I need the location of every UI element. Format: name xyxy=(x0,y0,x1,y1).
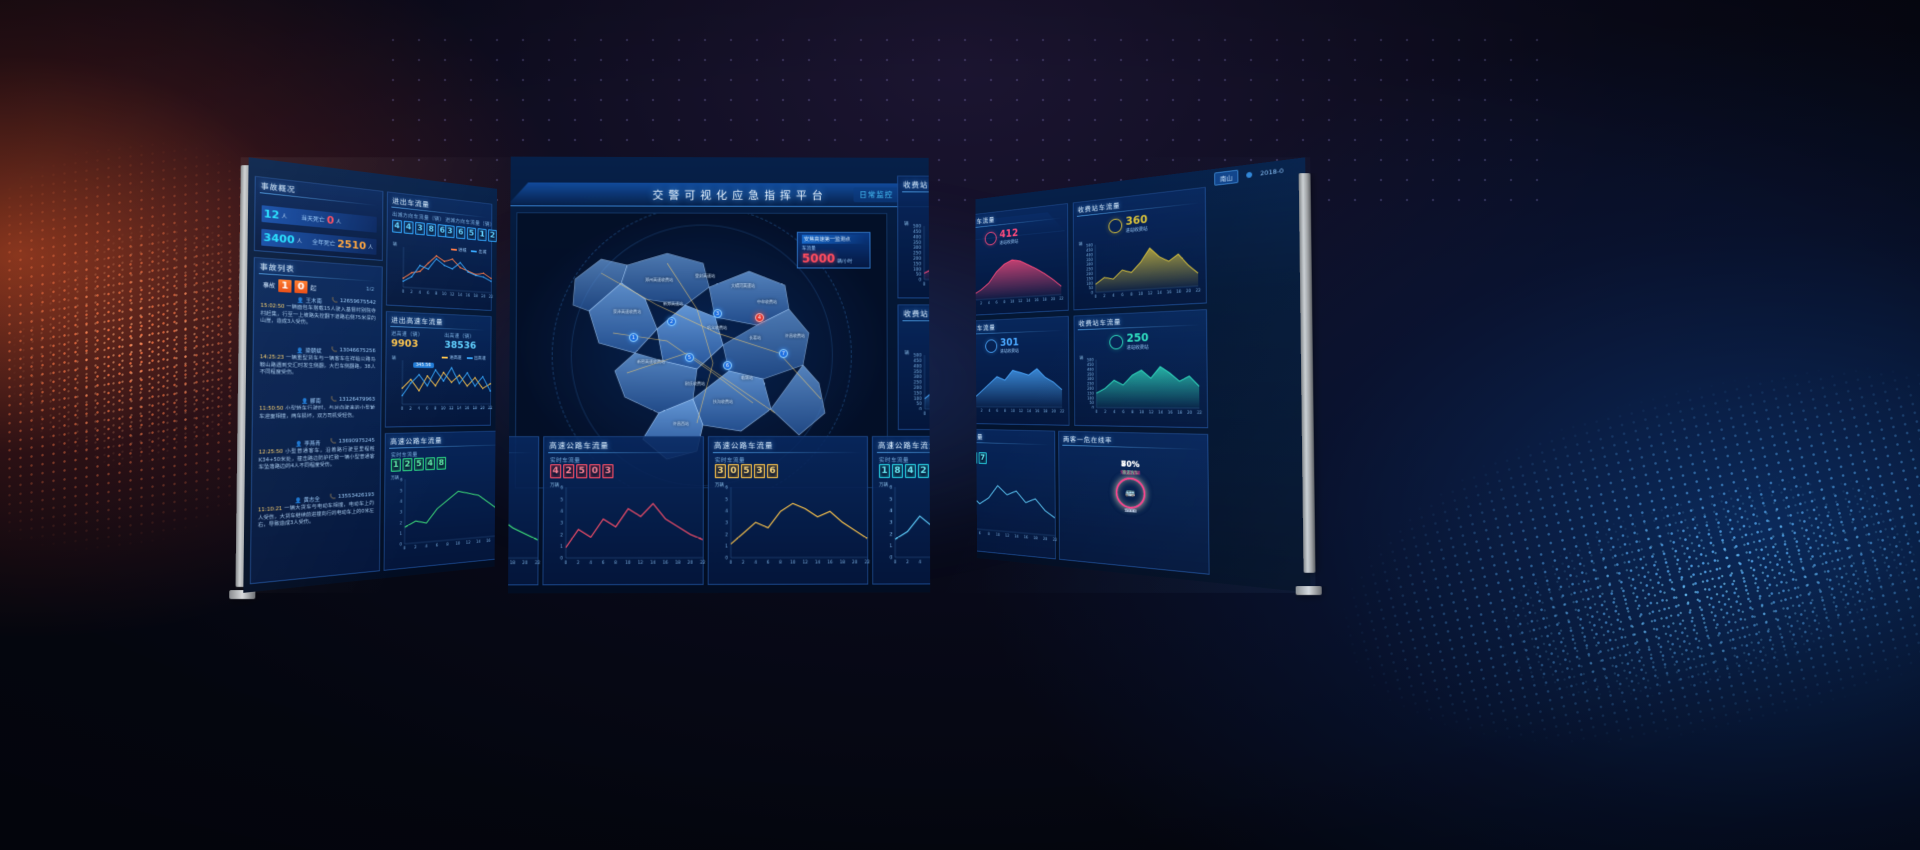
svg-text:12: 12 xyxy=(1148,290,1153,295)
wall-panel-right: 交警可视化应急指挥平台 日常监控 南山 2018-0 事故概况 12 人 当天死… xyxy=(975,157,1310,593)
digit-plate: 3 xyxy=(602,464,613,478)
toll-value: 360 xyxy=(1126,213,1148,228)
svg-text:300: 300 xyxy=(914,374,922,379)
highway-out-block: 出高速（辆） 38536 xyxy=(444,332,476,352)
svg-text:12: 12 xyxy=(1005,533,1009,538)
map-pin-6[interactable]: 6 xyxy=(723,361,732,370)
digit-plate: 6 xyxy=(456,226,465,239)
svg-text:22: 22 xyxy=(1197,410,1203,415)
toll-card-0: 收费站车流量 412进站收费站 辆50045040035030025020015… xyxy=(975,203,1068,317)
right-particle-field-inner xyxy=(1365,365,1920,826)
svg-text:辆: 辆 xyxy=(392,354,397,361)
svg-text:4: 4 xyxy=(419,290,422,295)
svg-text:18: 18 xyxy=(473,293,478,298)
svg-text:200: 200 xyxy=(1086,271,1093,276)
dashboard-title: 交警可视化应急指挥平台 xyxy=(652,186,827,202)
svg-text:2: 2 xyxy=(1104,409,1107,414)
svg-text:0: 0 xyxy=(1092,405,1095,410)
title-underline xyxy=(902,320,930,321)
title-underline xyxy=(1062,445,1201,450)
svg-text:6: 6 xyxy=(889,485,892,490)
highway-title: 高速公路车流量 xyxy=(714,440,774,451)
title-underline xyxy=(1077,203,1199,217)
accident-phone: 📞 13046675256 xyxy=(331,347,375,356)
map-label: 许昌西站 xyxy=(673,421,689,427)
accident-reporter: 👤 黄志全 xyxy=(295,495,320,504)
inout-flow-title: 进出车流量 xyxy=(392,196,429,210)
highway-title: 高速公路车流量 xyxy=(975,431,983,441)
svg-text:20: 20 xyxy=(480,406,485,411)
svg-text:18: 18 xyxy=(510,560,516,565)
wall-panel-left: 交警可视化应急指挥平台 日常监控 南山 2018-0 事故概况 12 人 当天死… xyxy=(243,157,497,593)
toll-label: 进站收费站 xyxy=(1000,238,1019,246)
svg-text:14: 14 xyxy=(1014,534,1019,539)
toll-ring-text: 360进站收费站 xyxy=(1126,213,1148,234)
svg-text:400: 400 xyxy=(1086,252,1093,257)
title-underline xyxy=(902,191,930,192)
legend-swatch xyxy=(442,356,448,358)
svg-text:5: 5 xyxy=(560,497,563,502)
tab-daily-monitor[interactable]: 日常监控 xyxy=(853,187,899,202)
svg-text:6: 6 xyxy=(436,543,439,548)
highway-card-2: 高速公路车流量 实时车流量 30536 万辆654321002468101214… xyxy=(708,436,869,585)
overview-row-today: 12 人 当天死亡 0 人 xyxy=(262,205,377,233)
svg-text:14: 14 xyxy=(476,539,481,544)
map-pin-5[interactable]: 5 xyxy=(685,353,694,362)
vehicle-icon: 🚌 xyxy=(1126,488,1136,498)
accident-list-card: 事故列表 事故 1 0 起 1/2 👤 王木南📞 1265967554215:0… xyxy=(250,257,383,584)
toll-title: 收费站车流量 xyxy=(975,215,995,228)
svg-text:2: 2 xyxy=(906,559,909,564)
digit-plate: 1 xyxy=(391,458,401,471)
svg-text:2: 2 xyxy=(725,532,728,537)
online-rate-gauge: 70%危险品运输🚌5000 xyxy=(1113,460,1148,516)
highway-inout-card: 进出高速车流量 进高速（辆） 9903 出高速（辆） 38536 进高速出高速 … xyxy=(385,311,492,428)
accident-overview-title: 事故概况 xyxy=(261,180,296,195)
title-underline xyxy=(975,330,1063,335)
map-pin-4[interactable]: 4 xyxy=(755,313,764,322)
accident-time: 12:25:50 xyxy=(259,449,285,456)
svg-text:10: 10 xyxy=(456,541,461,546)
accident-item-body: 14:25:23 一辆重型货车与一辆客车在祥临公路马鞍山路遇到交汇时发生侧翻，大… xyxy=(260,354,376,378)
overview-year-death-label: 全年死亡 xyxy=(312,237,335,248)
map-label: 郑州高速收费站 xyxy=(645,277,673,283)
svg-text:0: 0 xyxy=(402,289,405,294)
map-label: 许昌收费站 xyxy=(785,333,805,339)
svg-text:0: 0 xyxy=(890,555,893,560)
svg-text:6: 6 xyxy=(979,531,981,536)
svg-text:0: 0 xyxy=(923,282,926,287)
accident-reporter: 👤 王木南 xyxy=(297,296,322,305)
svg-text:350: 350 xyxy=(1086,257,1093,262)
accident-list-item[interactable]: 👤 黄志全📞 1355342619311:10:21 一辆大货车与电动车相撞，电… xyxy=(258,492,374,530)
toll-ring-text: 250进站收费站 xyxy=(1126,331,1148,351)
svg-text:10: 10 xyxy=(441,406,446,411)
map-pin-2[interactable]: 2 xyxy=(667,317,676,326)
digit-plate: 5 xyxy=(414,458,424,471)
dashboard: 交警可视化应急指挥平台 日常监控 南山 2018-0 事故概况 12 人 当天死… xyxy=(975,157,1310,593)
svg-text:12: 12 xyxy=(638,560,644,565)
svg-text:0: 0 xyxy=(403,545,406,550)
svg-text:0: 0 xyxy=(564,560,567,565)
vehicle-icon: 🚌 xyxy=(1126,488,1136,498)
digit-plate: 3 xyxy=(445,225,454,238)
svg-text:4: 4 xyxy=(988,408,990,413)
accident-list-item[interactable]: 👤 李燕青📞 1369097524512:25:50 小型普通客车，沿着路行驶至… xyxy=(259,438,375,472)
svg-text:500: 500 xyxy=(913,224,921,229)
chart-marker-label: 345.56 xyxy=(413,362,433,368)
accident-time: 15:02:50 xyxy=(260,303,286,310)
svg-text:0: 0 xyxy=(725,555,728,560)
svg-text:14: 14 xyxy=(457,406,462,411)
svg-text:14: 14 xyxy=(650,560,656,565)
svg-text:10: 10 xyxy=(1138,291,1143,296)
title-underline xyxy=(975,218,1062,230)
accident-list-page[interactable]: 1/2 xyxy=(366,287,374,293)
gauge-count: 5000 xyxy=(1113,508,1148,515)
gauge-percent: 70% xyxy=(1113,460,1148,470)
svg-text:0: 0 xyxy=(729,560,732,565)
highway-out-value: 38536 xyxy=(444,339,476,351)
map-label: 扶沟收费站 xyxy=(713,399,733,405)
digit-plate: 5 xyxy=(576,464,587,478)
svg-text:50: 50 xyxy=(1089,285,1094,290)
toll-title: 收费站车流量 xyxy=(1078,317,1121,329)
accident-item-head: 👤 王木南📞 12659675542 xyxy=(261,294,376,308)
accident-item-body: 11:50:50 小型轿车行驶时，与对向驶来的小型轿车迎面相撞，两车损坏，双方司… xyxy=(259,405,375,421)
svg-text:2: 2 xyxy=(560,532,563,537)
overview-unit: 人 xyxy=(297,236,303,244)
accident-item-body: 12:25:50 小型普通客车，沿着路行驶至里程桩K34+50米处，撞击路边防护… xyxy=(259,446,375,472)
legend-swatch xyxy=(471,250,477,252)
digit-plate: 8 xyxy=(437,457,446,470)
svg-text:0: 0 xyxy=(919,407,922,412)
svg-text:1: 1 xyxy=(725,543,728,548)
title-underline xyxy=(259,273,376,282)
dashboard-header: 交警可视化应急指挥平台 日常监控 xyxy=(508,182,930,207)
svg-text:6: 6 xyxy=(1122,409,1125,414)
svg-text:22: 22 xyxy=(865,559,871,564)
gauge-name: 客运汽车 xyxy=(1113,470,1148,477)
dashboard-header: 交警可视化应急指挥平台 日常监控 xyxy=(494,211,497,266)
accident-item-body: 15:02:50 一辆面包车搭载15人驶入基督村别院寺村赶集，行至一上坡路失控翻… xyxy=(260,303,376,330)
svg-text:0: 0 xyxy=(1095,409,1098,414)
svg-text:16: 16 xyxy=(466,293,471,298)
legend-entry: 出城 xyxy=(471,248,486,255)
map-label: 中牟收费站 xyxy=(757,299,777,305)
toll-title: 收费站车流量 xyxy=(975,323,995,334)
toll-card-2: 收费站车流量 301进站收费站 辆50045040035030025020015… xyxy=(975,316,1069,426)
toll-card-0: 收费站车流量 412进站收费站 辆50045040035030025020015… xyxy=(897,176,930,299)
svg-text:350: 350 xyxy=(1087,372,1094,377)
online-rate-card: 两客一危在线率 80%旅游客车🚌5000050%客运汽车🚌600070%危险品运… xyxy=(1058,431,1209,575)
map-info-box: 安焦高速第一监测点 车流量 5000 辆/小时 xyxy=(797,232,871,269)
accident-time: 14:25:23 xyxy=(260,354,286,360)
legend-entry: 进城 xyxy=(451,246,467,254)
svg-text:2: 2 xyxy=(980,301,982,306)
inout-flow-card: 进出车流量 出城方向车流量（辆） 44386 进城方向车流量（辆） 36512 … xyxy=(386,191,492,311)
overview-today-death-label: 当天死亡 xyxy=(301,213,325,224)
svg-text:2: 2 xyxy=(981,408,983,413)
digit-plate: 4 xyxy=(425,457,435,470)
svg-text:0: 0 xyxy=(401,406,404,411)
header-date: 2018-0 xyxy=(1260,167,1284,178)
svg-text:6: 6 xyxy=(996,408,998,413)
svg-text:16: 16 xyxy=(827,559,833,564)
svg-text:12: 12 xyxy=(466,540,471,545)
svg-text:8: 8 xyxy=(1003,299,1005,304)
inout-in-block: 进城方向车流量（辆） 36512 xyxy=(508,194,510,218)
svg-text:20: 20 xyxy=(1052,409,1057,414)
svg-text:辆: 辆 xyxy=(905,349,910,356)
svg-text:100: 100 xyxy=(1087,395,1094,400)
bezel-foot-right xyxy=(1296,586,1322,595)
svg-text:400: 400 xyxy=(913,234,921,239)
svg-text:100: 100 xyxy=(914,396,922,401)
gauge-ring: 🚌 xyxy=(1116,477,1146,510)
toll-ring-icon xyxy=(1108,218,1122,234)
svg-text:200: 200 xyxy=(914,385,922,390)
svg-text:4: 4 xyxy=(1112,293,1115,298)
svg-text:250: 250 xyxy=(913,250,921,255)
svg-text:8: 8 xyxy=(446,542,449,547)
accident-reporter: 👤 梁朝斌 xyxy=(297,346,322,354)
map-pin-7[interactable]: 7 xyxy=(779,349,788,358)
highway-title: 高速公路车流量 xyxy=(878,440,930,451)
dashboard: 交警可视化应急指挥平台 日常监控 南山 2018-0 事故概况 12 人 当天死… xyxy=(243,157,497,593)
toll-card-3: 收费站车流量 250进站收费站 辆50045040035030025020015… xyxy=(1074,309,1209,428)
inout-in-label: 进城方向车流量（辆） xyxy=(445,216,497,228)
svg-text:20: 20 xyxy=(688,560,694,565)
svg-text:6: 6 xyxy=(400,477,403,482)
highway-in-label: 进高速（辆） xyxy=(391,330,423,338)
svg-text:250: 250 xyxy=(1087,381,1094,386)
svg-text:3: 3 xyxy=(560,520,563,525)
svg-text:22: 22 xyxy=(1196,287,1202,292)
svg-text:18: 18 xyxy=(1033,535,1038,540)
svg-text:8: 8 xyxy=(988,531,990,536)
svg-text:2: 2 xyxy=(400,520,403,525)
svg-text:18: 18 xyxy=(496,537,497,542)
accident-list-item[interactable]: 👤 王木南📞 1265967554215:02:50 一辆面包车搭载15人驶入基… xyxy=(260,294,376,330)
map-pin-1[interactable]: 1 xyxy=(629,333,638,342)
svg-text:100: 100 xyxy=(1086,281,1093,286)
svg-text:16: 16 xyxy=(1024,534,1029,539)
highway-sub: 实时车流量 xyxy=(879,456,909,464)
svg-text:16: 16 xyxy=(663,560,669,565)
overview-today-injured: 12 xyxy=(264,207,280,221)
digit-plate: 0 xyxy=(589,464,600,478)
svg-text:300: 300 xyxy=(1086,262,1093,267)
highway-title: 高速公路车流量 xyxy=(390,435,442,446)
svg-text:8: 8 xyxy=(1004,408,1006,413)
svg-text:0: 0 xyxy=(919,277,922,282)
highway-card-3: 高速公路车流量 实时车流量 18427 万辆654321002468101214… xyxy=(872,436,930,585)
svg-text:450: 450 xyxy=(1086,247,1093,252)
title-underline xyxy=(713,452,861,453)
bezel-right xyxy=(1299,173,1316,573)
svg-text:2: 2 xyxy=(1103,293,1106,298)
svg-text:2: 2 xyxy=(414,544,417,549)
svg-text:10: 10 xyxy=(1139,409,1144,414)
svg-text:12: 12 xyxy=(450,292,455,297)
svg-text:16: 16 xyxy=(1167,289,1172,294)
accident-count-label: 事故 xyxy=(263,280,276,290)
overview-unit: 人 xyxy=(368,243,373,251)
accident-phone: 📞 12659675542 xyxy=(332,298,376,308)
digit-plate: 6 xyxy=(438,224,447,237)
title-underline xyxy=(508,452,532,453)
digit-plate: 6 xyxy=(767,464,778,478)
digit-plate: 2 xyxy=(488,229,497,242)
svg-text:4: 4 xyxy=(919,559,922,564)
digit-plate: 8 xyxy=(426,223,436,236)
overview-today-death: 0 xyxy=(327,214,335,227)
accident-phone: 📞 13553426193 xyxy=(330,492,375,502)
accident-list-item[interactable]: 👤 郦南📞 1312647996311:50:50 小型轿车行驶时，与对向驶来的… xyxy=(259,397,375,421)
video-wall: 交警可视化应急指挥平台 日常监控 南山 2018-0 事故概况 12 人 当天死… xyxy=(238,156,1313,592)
svg-text:4: 4 xyxy=(560,508,563,513)
svg-text:22: 22 xyxy=(700,560,706,565)
vehicle-icon: 🚌 xyxy=(1126,488,1136,498)
digit-plate: 2 xyxy=(975,452,977,464)
status-dot-icon xyxy=(1246,172,1252,178)
highway-title: 高速公路车流量 xyxy=(549,440,609,451)
svg-text:12: 12 xyxy=(449,406,454,411)
map-label: 长葛站 xyxy=(749,335,761,341)
svg-text:6: 6 xyxy=(427,290,430,295)
svg-text:300: 300 xyxy=(913,245,921,250)
highway-card-0: 高速公路车流量 实时车流量 12548 万辆654321002468101214… xyxy=(508,436,539,586)
svg-text:10: 10 xyxy=(790,560,796,565)
accident-reporter: 👤 郦南 xyxy=(302,397,321,405)
digit-plate: 2 xyxy=(508,204,510,218)
toll-ring-icon xyxy=(985,231,997,245)
svg-text:18: 18 xyxy=(473,406,478,411)
digit-plate: 7 xyxy=(979,452,987,464)
toll-ring-text: 301进站收费站 xyxy=(1000,336,1019,354)
svg-text:8: 8 xyxy=(614,560,617,565)
svg-text:1: 1 xyxy=(889,543,892,548)
svg-text:16: 16 xyxy=(1168,410,1173,415)
svg-text:18: 18 xyxy=(840,559,846,564)
inout-in-block: 进城方向车流量（辆） 36512 xyxy=(445,216,497,242)
digit-plate: 4 xyxy=(404,221,414,235)
svg-text:2: 2 xyxy=(410,289,413,294)
accident-count: 事故 1 0 起 xyxy=(263,278,317,294)
svg-text:22: 22 xyxy=(489,294,494,299)
svg-text:8: 8 xyxy=(435,291,438,296)
toll-value: 412 xyxy=(999,227,1018,241)
accident-list-item[interactable]: 👤 梁朝斌📞 1304667525614:25:23 一辆重型货车与一辆客车在祥… xyxy=(260,345,376,377)
svg-text:6: 6 xyxy=(767,560,770,565)
svg-text:12: 12 xyxy=(1018,298,1023,303)
svg-text:12: 12 xyxy=(1019,408,1024,413)
highway-card-1: 高速公路车流量 实时车流量 42503 万辆654321002468101214… xyxy=(542,436,703,585)
digit-plate: 4 xyxy=(392,219,402,233)
highway-out-label: 出高速（辆） xyxy=(444,332,476,340)
svg-text:500: 500 xyxy=(1086,242,1093,247)
svg-text:16: 16 xyxy=(1035,409,1040,414)
gauge-percent: 50% xyxy=(1113,460,1148,470)
svg-text:150: 150 xyxy=(913,261,921,266)
svg-text:400: 400 xyxy=(1087,367,1094,372)
accident-count-unit: 起 xyxy=(310,283,316,292)
accident-time: 11:50:50 xyxy=(259,406,285,412)
highway-inout-title: 进出高速车流量 xyxy=(391,315,443,327)
toll-ring-text: 412进站收费站 xyxy=(999,227,1018,246)
toll-label: 进站收费站 xyxy=(1126,225,1148,233)
svg-text:8: 8 xyxy=(779,560,782,565)
gauge-name: 旅游客车 xyxy=(1113,470,1148,477)
svg-text:18: 18 xyxy=(1043,297,1048,302)
header-right: 南山 2018-0 xyxy=(1214,164,1284,186)
screen-reflection xyxy=(235,157,1315,593)
svg-text:2: 2 xyxy=(742,560,745,565)
svg-text:1: 1 xyxy=(560,544,563,549)
accident-list-title: 事故列表 xyxy=(260,261,295,274)
svg-text:万辆: 万辆 xyxy=(391,474,400,481)
toll-value: 301 xyxy=(1000,336,1019,348)
svg-text:22: 22 xyxy=(535,560,541,565)
accident-reporter: 👤 李燕青 xyxy=(296,439,321,447)
svg-text:250: 250 xyxy=(914,380,922,385)
highway-in-block: 进高速（辆） 9903 xyxy=(391,330,423,350)
svg-text:22: 22 xyxy=(1053,537,1058,542)
svg-text:14: 14 xyxy=(1158,409,1163,414)
toll-title: 收费站车流量 xyxy=(903,308,930,319)
digit-plate: 5 xyxy=(741,464,752,478)
online-rate-title: 两客一危在线率 xyxy=(1063,434,1112,445)
title-underline xyxy=(390,326,486,331)
overview-unit: 人 xyxy=(281,212,287,220)
highway-card-0: 高速公路车流量 实时车流量 12548 万辆654321002468101214… xyxy=(384,430,498,571)
toll-label: 进站收费站 xyxy=(1127,344,1149,351)
gauge-ring: 🚌 xyxy=(1116,477,1146,510)
svg-text:5: 5 xyxy=(889,496,892,501)
svg-text:6: 6 xyxy=(602,560,605,565)
svg-text:450: 450 xyxy=(1087,362,1094,367)
map-label: 临颍站 xyxy=(741,375,753,381)
title-underline xyxy=(391,207,486,218)
map-pin-3[interactable]: 3 xyxy=(713,309,722,318)
legend-swatch xyxy=(451,248,457,250)
svg-text:辆: 辆 xyxy=(904,220,909,227)
svg-text:400: 400 xyxy=(914,363,922,368)
digit-plate: 5 xyxy=(467,227,476,240)
title-underline xyxy=(1078,324,1201,330)
svg-text:100: 100 xyxy=(913,266,921,271)
svg-text:18: 18 xyxy=(1043,409,1048,414)
svg-text:22: 22 xyxy=(1059,296,1064,301)
svg-text:50: 50 xyxy=(916,272,922,277)
svg-text:500: 500 xyxy=(914,353,922,358)
svg-text:14: 14 xyxy=(815,559,821,564)
svg-text:3: 3 xyxy=(889,520,892,525)
digit-plate: 3 xyxy=(754,464,765,478)
svg-text:0: 0 xyxy=(923,411,926,416)
region-chip[interactable]: 南山 xyxy=(1214,170,1238,186)
toll-ring-icon xyxy=(1109,334,1123,349)
svg-text:0: 0 xyxy=(399,542,402,547)
svg-text:0: 0 xyxy=(894,559,897,564)
dashboard-header: 交警可视化应急指挥平台 日常监控 xyxy=(975,210,1065,265)
svg-text:18: 18 xyxy=(675,560,681,565)
svg-text:4: 4 xyxy=(988,300,990,305)
svg-text:1: 1 xyxy=(400,531,403,536)
title-underline xyxy=(548,452,697,453)
accident-item-body: 11:10:21 一辆大货车与电动车相撞，电动车上的人受伤，大货车继续前进撞向行… xyxy=(258,501,374,530)
